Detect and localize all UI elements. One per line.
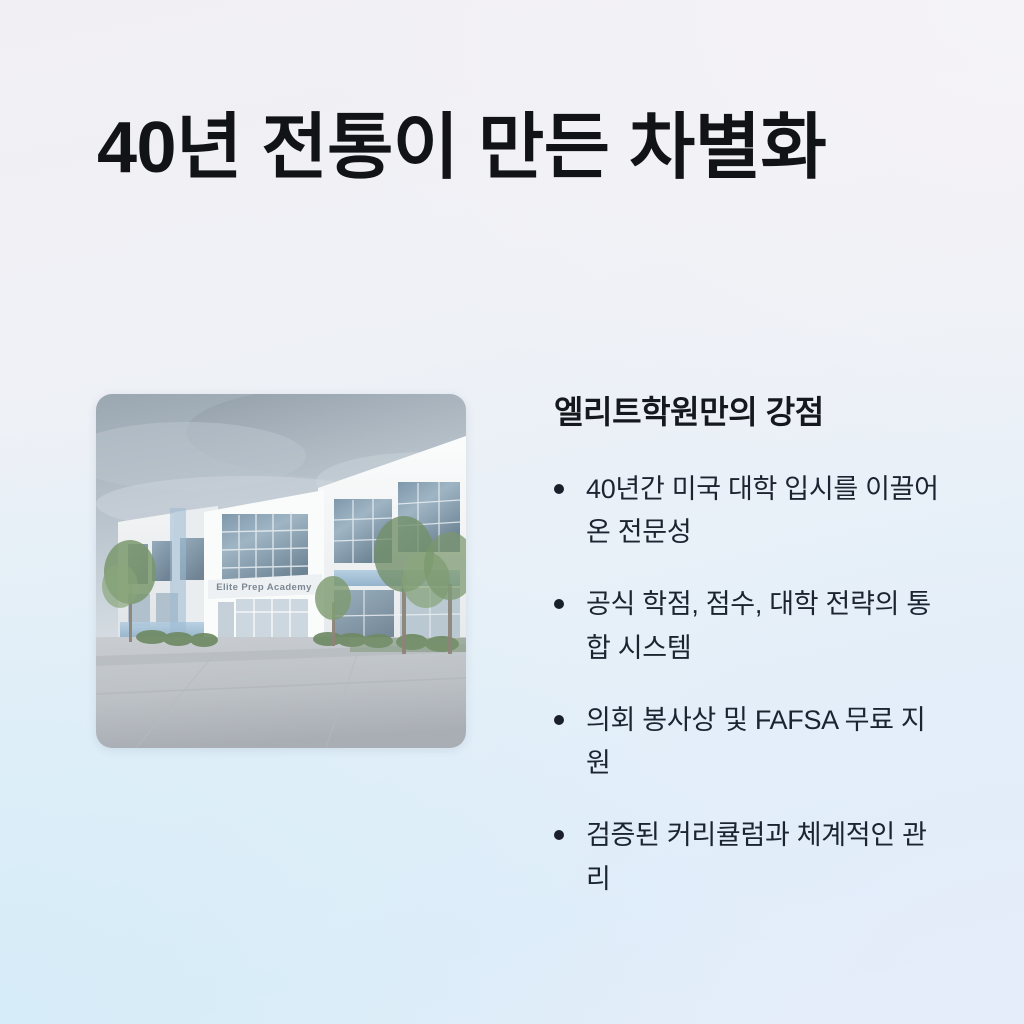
bullet-dot-icon [554,830,564,840]
list-item-label: 공식 학점, 점수, 대학 전략의 통합 시스템 [586,583,946,670]
list-item-label: 40년간 미국 대학 입시를 이끌어 온 전문성 [586,468,946,555]
list-item-label: 의회 봉사상 및 FAFSA 무료 지원 [586,699,946,786]
academy-building-photo: Elite Prep Academy [96,394,466,748]
building-illustration: Elite Prep Academy [96,394,466,748]
list-item: 의회 봉사상 및 FAFSA 무료 지원 [554,699,946,786]
page-title: 40년 전통이 만든 차별화 [97,96,917,201]
bullet-dot-icon [554,715,564,725]
bullet-dot-icon [554,484,564,494]
slide-canvas: 40년 전통이 만든 차별화 [0,0,1024,1024]
building-sign-text: Elite Prep Academy [216,582,312,593]
list-item: 검증된 커리큘럼과 체계적인 관리 [554,814,946,901]
strengths-panel: 엘리트학원만의 강점 40년간 미국 대학 입시를 이끌어 온 전문성 공식 학… [554,392,946,901]
bullet-dot-icon [554,599,564,609]
strengths-list: 40년간 미국 대학 입시를 이끌어 온 전문성 공식 학점, 점수, 대학 전… [554,468,946,902]
list-item: 40년간 미국 대학 입시를 이끌어 온 전문성 [554,468,946,555]
panel-title: 엘리트학원만의 강점 [554,392,946,434]
list-item: 공식 학점, 점수, 대학 전략의 통합 시스템 [554,583,946,670]
list-item-label: 검증된 커리큘럼과 체계적인 관리 [586,814,946,901]
